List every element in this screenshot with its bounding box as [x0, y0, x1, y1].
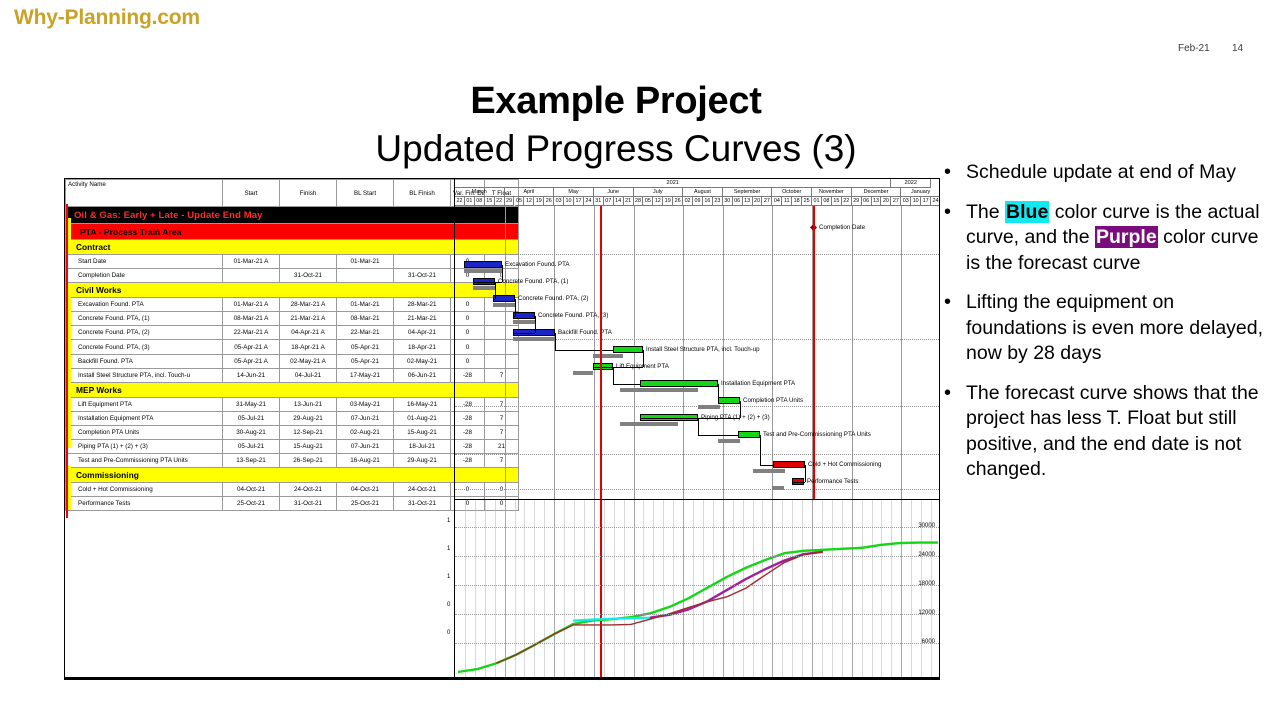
cell-bl-start: 05-Apr-21 [337, 354, 394, 368]
cell-start: 31-May-21 [223, 397, 280, 411]
cell-finish: 21-Mar-21 A [280, 312, 337, 326]
timescale-week-cell: 08 [475, 197, 485, 206]
timescale-week-cell: 26 [544, 197, 554, 206]
timescale-week-cell: 15 [485, 197, 495, 206]
timescale-week-cell: 26 [673, 197, 683, 206]
bullet-marker-icon: • [944, 200, 966, 277]
timescale-month-cell: May [554, 188, 594, 197]
timescale-week-cell: 24 [931, 197, 940, 206]
timescale-week-cell: 17 [921, 197, 931, 206]
cell-bl-start: 05-Apr-21 [337, 340, 394, 354]
cell-bl-finish: 04-Apr-21 [394, 326, 451, 340]
cell-bl-start: 08-Mar-21 [337, 312, 394, 326]
bar-label: Backfill Found. PTA [558, 329, 612, 336]
bar-label: Excavation Found. PTA [505, 261, 570, 268]
cell-bl-finish: 31-Oct-21 [394, 269, 451, 283]
timescale-week-cell: 19 [534, 197, 544, 206]
timescale-week-cell: 08 [822, 197, 832, 206]
cell-finish: 13-Jun-21 [280, 397, 337, 411]
table-row[interactable]: Performance Tests25-Oct-2131-Oct-2125-Oc… [66, 497, 519, 511]
gantt-bar[interactable] [640, 380, 718, 387]
dependency-link [613, 384, 640, 385]
cell-finish: 31-Oct-21 [280, 497, 337, 511]
baseline-bar [593, 354, 623, 358]
timescale-month-cell: January [901, 188, 940, 197]
cell-finish [280, 255, 337, 269]
dependency-link [495, 282, 496, 299]
cell-finish: 31-Oct-21 [280, 269, 337, 283]
timescale-week-cell: 10 [564, 197, 574, 206]
activity-table-grid: Activity NameStartFinishBL StartBL Finis… [65, 179, 519, 511]
page-subtitle-text: Updated Progress Curves (3) [375, 128, 856, 169]
table-row[interactable]: Completion PTA Units30-Aug-2112-Sep-2102… [66, 425, 519, 439]
bullet-item: •The forecast curve shows that the proje… [944, 381, 1264, 483]
dependency-link [535, 316, 536, 333]
grid-line-month [554, 206, 555, 499]
table-row[interactable]: Piping PTA (1) + (2) + (3)05-Jul-2115-Au… [66, 440, 519, 454]
cell-start: 05-Apr-21 A [223, 354, 280, 368]
table-column-header[interactable]: BL Finish [394, 180, 451, 207]
table-row[interactable]: Backfill Found. PTA05-Apr-21 A02-May-21 … [66, 354, 519, 368]
grid-line-value [455, 556, 940, 557]
grid-line-month [594, 206, 595, 499]
dependency-link [555, 333, 556, 350]
dependency-link [555, 350, 613, 351]
cell-name: Concrete Found. PTA, (1) [66, 312, 223, 326]
cell-name: Concrete Found. PTA, (2) [66, 326, 223, 340]
area-banner: PTA - Process Train Area [66, 224, 519, 240]
timescale-week-cell: 05 [515, 197, 525, 206]
dependency-link [640, 418, 740, 419]
cell-name: Excavation Found. PTA [66, 298, 223, 312]
cell-finish: 04-Apr-21 A [280, 326, 337, 340]
y-axis-tick-left: 1 [447, 574, 450, 580]
table-row[interactable]: Cold + Hot Commissioning04-Oct-2124-Oct-… [66, 483, 519, 497]
page-title: Example Project [0, 80, 1280, 123]
curve-series [458, 543, 938, 672]
y-axis-tick-right: 6000 [922, 639, 935, 645]
cell-start: 25-Oct-21 [223, 497, 280, 511]
y-axis-tick-right: 18000 [918, 581, 935, 587]
spine-stripe-group [68, 296, 71, 406]
bar-label: Install Steel Structure PTA, incl. Touch… [646, 346, 760, 353]
baseline-bar [473, 286, 495, 290]
cell-bl-finish: 24-Oct-21 [394, 483, 451, 497]
timescale-week-cell: 19 [663, 197, 673, 206]
table-row[interactable]: Completion Date31-Oct-2131-Oct-2100 [66, 269, 519, 283]
cell-bl-start: 01-Mar-21 [337, 298, 394, 312]
dependency-link [718, 384, 719, 401]
cell-bl-start: 07-Jun-21 [337, 411, 394, 425]
cell-bl-finish [394, 255, 451, 269]
group-banner-label: Commissioning [66, 468, 519, 483]
bullet-text: Schedule update at end of May [966, 160, 1236, 186]
dependency-link [760, 465, 773, 466]
timescale-week-cell: 20 [753, 197, 763, 206]
grid-line-value [455, 585, 940, 586]
dependency-link [502, 265, 503, 282]
timescale-month-cell: October [772, 188, 812, 197]
cell-start: 30-Aug-21 [223, 425, 280, 439]
y-axis-tick-left: 1 [447, 518, 450, 524]
bullet-highlight-blue: Blue [1005, 201, 1049, 223]
bar-label: Performance Tests [807, 478, 858, 485]
bullet-item: •Lifting the equipment on foundations is… [944, 290, 1264, 367]
cell-name: Piping PTA (1) + (2) + (3) [66, 440, 223, 454]
cell-bl-start: 22-Mar-21 [337, 326, 394, 340]
bar-label: Concrete Found. PTA, (1) [498, 278, 568, 285]
bullet-text-run: Schedule update at end of May [966, 161, 1236, 183]
cell-bl-start: 17-May-21 [337, 368, 394, 382]
bullet-text-run: The forecast curve shows that the projec… [966, 382, 1259, 481]
slide-date: Feb-21 [1178, 43, 1210, 54]
dependency-link [513, 316, 515, 317]
timescale-week-cell: 07 [604, 197, 614, 206]
timescale-week-cell: 03 [901, 197, 911, 206]
baseline-bar [698, 405, 720, 409]
timescale-week-cell: 27 [891, 197, 901, 206]
timescale-week-cell: 24 [584, 197, 594, 206]
dependency-link [513, 333, 535, 334]
cell-bl-start [337, 269, 394, 283]
timescale-week-cell: 30 [723, 197, 733, 206]
baseline-bar [573, 371, 593, 375]
cell-finish: 28-Mar-21 A [280, 298, 337, 312]
bar-label: Concrete Found. PTA, (2) [518, 295, 588, 302]
baseline-bar [513, 337, 555, 341]
cell-finish: 18-Apr-21 A [280, 340, 337, 354]
timescale-week-cell: 27 [762, 197, 772, 206]
timescale-month-cell: June [594, 188, 634, 197]
figure-bottom-border [65, 677, 939, 679]
timescale-week-cell: 15 [832, 197, 842, 206]
cell-name: Install Steel Structure PTA, incl. Touch… [66, 368, 223, 382]
timescale-week-cell: 31 [594, 197, 604, 206]
cell-bl-start: 01-Mar-21 [337, 255, 394, 269]
timescale-week-cell: 09 [693, 197, 703, 206]
timescale-week-cell: 17 [574, 197, 584, 206]
curve-series [496, 552, 822, 664]
bar-label: Completion Date [819, 224, 865, 231]
grid-line-row [455, 489, 940, 490]
cell-bl-finish: 29-Aug-21 [394, 454, 451, 468]
timescale-week-cell: 02 [683, 197, 693, 206]
y-axis-tick-left: 0 [447, 630, 450, 636]
cell-name: Installation Equipment PTA [66, 411, 223, 425]
bar-label: Installation Equipment PTA [721, 380, 795, 387]
baseline-bar [772, 486, 784, 490]
page-title-text: Example Project [470, 80, 761, 122]
cell-start: 08-Mar-21 A [223, 312, 280, 326]
timescale-month-cell: December [852, 188, 902, 197]
slide-root: Why-Planning.com Feb-21 14 Example Proje… [0, 0, 1280, 720]
cell-bl-start: 02-Aug-21 [337, 425, 394, 439]
cell-name: Test and Pre-Commissioning PTA Units [66, 454, 223, 468]
dependency-link [698, 435, 738, 436]
cell-name: Completion PTA Units [66, 425, 223, 439]
timescale-week-cell: 22 [842, 197, 852, 206]
y-axis-tick-left: 0 [447, 602, 450, 608]
timescale-week-cell: 06 [862, 197, 872, 206]
table-row[interactable]: Test and Pre-Commissioning PTA Units13-S… [66, 454, 519, 468]
grid-line-month [505, 206, 506, 499]
timescale-week-cell: 22 [455, 197, 465, 206]
spine-stripe-group [68, 392, 71, 448]
dependency-link [740, 401, 741, 418]
table-row[interactable]: Start Date01-Mar-21 A01-Mar-210 [66, 255, 519, 269]
y-axis-tick-right: 24000 [918, 552, 935, 558]
cell-bl-start: 04-Oct-21 [337, 483, 394, 497]
timescale-week-cell: 13 [872, 197, 882, 206]
group-banner-label: Contract [66, 240, 519, 255]
gantt-bar[interactable] [513, 312, 535, 319]
spine-stripe-group [68, 218, 71, 250]
group-banner-label: Civil Works [66, 283, 519, 298]
bullet-item: •The Blue color curve is the actual curv… [944, 200, 1264, 277]
group-color-spine [65, 204, 71, 518]
timescale-weeks: 2201081522290512192603101724310714212805… [455, 197, 940, 206]
timescale-year-cell: 2021 [455, 179, 891, 188]
timescale-month-cell: April [505, 188, 555, 197]
y-axis-tick-right: 12000 [918, 610, 935, 616]
table-column-header[interactable]: BL Start [337, 180, 394, 207]
cell-finish: 12-Sep-21 [280, 425, 337, 439]
grid-line-value [455, 643, 940, 644]
bullet-text: The Blue color curve is the actual curve… [966, 200, 1264, 277]
area-banner-label: PTA - Process Train Area [66, 224, 519, 240]
timescale-week-cell: 21 [624, 197, 634, 206]
cell-bl-finish: 01-Aug-21 [394, 411, 451, 425]
completion-date-line [813, 206, 815, 499]
cell-finish: 15-Aug-21 [280, 440, 337, 454]
cell-bl-start: 16-Aug-21 [337, 454, 394, 468]
cell-bl-finish: 21-Mar-21 [394, 312, 451, 326]
timescale-week-cell: 01 [812, 197, 822, 206]
bar-label: Concrete Found. PTA, (3) [538, 312, 608, 319]
baseline-bar [513, 320, 535, 324]
bullet-list: •Schedule update at end of May•The Blue … [944, 160, 1264, 497]
cell-bl-start: 25-Oct-21 [337, 497, 394, 511]
cell-bl-finish: 28-Mar-21 [394, 298, 451, 312]
cell-finish: 02-May-21 A [280, 354, 337, 368]
bar-label: Completion PTA Units [743, 397, 803, 404]
dependency-link [515, 299, 516, 316]
cell-name: Performance Tests [66, 497, 223, 511]
baseline-bar [718, 439, 740, 443]
group-banner-label: MEP Works [66, 382, 519, 397]
cell-name: Cold + Hot Commissioning [66, 483, 223, 497]
project-banner-label: Oil & Gas: Early + Late - Update End May [66, 207, 519, 224]
gantt-bar[interactable] [464, 261, 502, 268]
bullet-marker-icon: • [944, 160, 966, 186]
timescale-month-cell: November [812, 188, 852, 197]
cell-start [223, 269, 280, 283]
cell-bl-start: 03-May-21 [337, 397, 394, 411]
bar-label: Cold + Hot Commissioning [808, 461, 881, 468]
timescale-year-cell: 2022 [891, 179, 931, 188]
table-row[interactable]: Excavation Found. PTA01-Mar-21 A28-Mar-2… [66, 298, 519, 312]
timescale-month-cell: August [683, 188, 723, 197]
timescale-week-cell: 12 [524, 197, 534, 206]
cell-bl-finish: 15-Aug-21 [394, 425, 451, 439]
grid-line-row [455, 254, 940, 255]
timescale-week-cell: 14 [614, 197, 624, 206]
gantt-figure: Activity NameStartFinishBL StartBL Finis… [64, 178, 940, 680]
timescale-week-cell: 23 [713, 197, 723, 206]
cell-bl-finish: 06-Jun-21 [394, 368, 451, 382]
timescale-week-cell: 04 [772, 197, 782, 206]
table-row[interactable]: Lift Equipment PTA31-May-2113-Jun-2103-M… [66, 397, 519, 411]
cell-start: 04-Oct-21 [223, 483, 280, 497]
cell-bl-finish: 16-May-21 [394, 397, 451, 411]
table-column-header[interactable]: Finish [280, 180, 337, 207]
baseline-bar [464, 269, 502, 273]
baseline-bar [620, 388, 698, 392]
gantt-bar[interactable] [738, 431, 760, 438]
cell-start: 05-Jul-21 [223, 440, 280, 454]
gantt-bar[interactable] [773, 461, 805, 468]
dependency-link [493, 299, 495, 300]
cell-start: 13-Sep-21 [223, 454, 280, 468]
y-axis-tick-left: 1 [447, 546, 450, 552]
baseline-bar [753, 469, 785, 473]
cell-start: 01-Mar-21 A [223, 298, 280, 312]
grid-line-month [901, 206, 902, 499]
table-row[interactable]: Concrete Found. PTA, (3)05-Apr-21 A18-Ap… [66, 340, 519, 354]
cell-name: Completion Date [66, 269, 223, 283]
grid-line-month [852, 206, 853, 499]
cell-bl-finish: 18-Apr-21 [394, 340, 451, 354]
table-column-header[interactable]: Start [223, 180, 280, 207]
dependency-link [613, 367, 614, 384]
grid-line-month [772, 206, 773, 499]
grid-line-row [455, 454, 940, 455]
gantt-bar[interactable] [718, 397, 740, 404]
group-banner: MEP Works [66, 382, 519, 397]
bullet-text: Lifting the equipment on foundations is … [966, 290, 1264, 367]
baseline-bar [620, 422, 678, 426]
cell-bl-start: 07-Jun-21 [337, 440, 394, 454]
table-row[interactable]: Installation Equipment PTA05-Jul-2129-Au… [66, 411, 519, 425]
dependency-link [792, 482, 805, 483]
timescale-months: MarchAprilMayJuneJulyAugustSeptemberOcto… [455, 188, 940, 197]
data-date-line [600, 206, 602, 499]
table-column-header[interactable]: Activity Name [66, 180, 223, 207]
timescale-week-cell: 11 [782, 197, 792, 206]
cell-bl-finish: 18-Jul-21 [394, 440, 451, 454]
timescale-week-cell: 12 [653, 197, 663, 206]
gantt-bar[interactable] [613, 346, 643, 353]
cell-name: Start Date [66, 255, 223, 269]
bullet-text: The forecast curve shows that the projec… [966, 381, 1264, 483]
grid-line-value [455, 527, 940, 528]
timescale-years: 20212022 [455, 179, 940, 188]
bullet-marker-icon: • [944, 381, 966, 483]
timescale-week-cell: 25 [802, 197, 812, 206]
group-banner: Commissioning [66, 468, 519, 483]
bullet-text-run: Lifting the equipment on foundations is … [966, 291, 1263, 364]
timescale-week-cell: 18 [792, 197, 802, 206]
timescale-week-cell: 29 [505, 197, 515, 206]
bullet-highlight-purple: Purple [1095, 226, 1158, 248]
bullet-text-run: The [966, 201, 1005, 223]
dependency-link [698, 418, 699, 435]
timescale-week-cell: 06 [733, 197, 743, 206]
timescale-week-cell: 03 [554, 197, 564, 206]
table-row[interactable]: Concrete Found. PTA, (2)22-Mar-21 A04-Ap… [66, 326, 519, 340]
timescale-week-cell: 01 [465, 197, 475, 206]
bullet-item: •Schedule update at end of May [944, 160, 1264, 186]
timescale-week-cell: 22 [495, 197, 505, 206]
group-banner: Contract [66, 240, 519, 255]
table-row[interactable]: Concrete Found. PTA, (1)08-Mar-21 A21-Ma… [66, 312, 519, 326]
cell-bl-finish: 02-May-21 [394, 354, 451, 368]
gantt-bar[interactable] [493, 295, 515, 302]
cell-finish: 26-Sep-21 [280, 454, 337, 468]
timescale-week-cell: 20 [881, 197, 891, 206]
cell-start: 01-Mar-21 A [223, 255, 280, 269]
gantt-bars-zone: Completion DateExcavation Found. PTAConc… [455, 206, 940, 499]
timescale-month-cell: September [723, 188, 773, 197]
cell-finish: 29-Aug-21 [280, 411, 337, 425]
s-curve-plot: 30000240001800012000600011100 [455, 499, 940, 679]
timescale-week-cell: 16 [703, 197, 713, 206]
cell-finish: 24-Oct-21 [280, 483, 337, 497]
cell-name: Lift Equipment PTA [66, 397, 223, 411]
gantt-chart-area: 20212022 MarchAprilMayJuneJulyAugustSept… [454, 179, 940, 679]
grid-line-value [455, 614, 940, 615]
baseline-bar [493, 303, 515, 307]
cell-start: 14-Jun-21 [223, 368, 280, 382]
timescale-week-cell: 29 [852, 197, 862, 206]
table-body: Oil & Gas: Early + Late - Update End May… [66, 207, 519, 511]
cell-name: Backfill Found. PTA [66, 354, 223, 368]
dependency-link [473, 282, 502, 283]
cell-finish: 04-Jul-21 [280, 368, 337, 382]
table-header-row: Activity NameStartFinishBL StartBL Finis… [66, 180, 519, 207]
timescale-week-cell: 05 [643, 197, 653, 206]
cell-start: 22-Mar-21 A [223, 326, 280, 340]
timescale-week-cell: 10 [911, 197, 921, 206]
dependency-link [760, 435, 761, 465]
cell-start: 05-Apr-21 A [223, 340, 280, 354]
brand-logo: Why-Planning.com [14, 6, 200, 30]
bar-label: Test and Pre-Commissioning PTA Units [763, 431, 871, 438]
group-banner: Civil Works [66, 283, 519, 298]
table-row[interactable]: Install Steel Structure PTA, incl. Touch… [66, 368, 519, 382]
dependency-link [643, 350, 644, 367]
activity-table: Activity NameStartFinishBL StartBL Finis… [65, 179, 454, 679]
project-banner: Oil & Gas: Early + Late - Update End May [66, 207, 519, 224]
timescale-month-cell: July [634, 188, 684, 197]
slide-page-number: 14 [1232, 43, 1243, 54]
timescale-month-cell: March [455, 188, 505, 197]
dependency-link [805, 465, 806, 482]
y-axis-tick-right: 30000 [918, 523, 935, 529]
cell-name: Concrete Found. PTA, (3) [66, 340, 223, 354]
cell-bl-finish: 31-Oct-21 [394, 497, 451, 511]
timescale-week-cell: 13 [743, 197, 753, 206]
bullet-marker-icon: • [944, 290, 966, 367]
spine-stripe-group [68, 466, 71, 510]
cell-start: 05-Jul-21 [223, 411, 280, 425]
timescale-week-cell: 28 [634, 197, 644, 206]
